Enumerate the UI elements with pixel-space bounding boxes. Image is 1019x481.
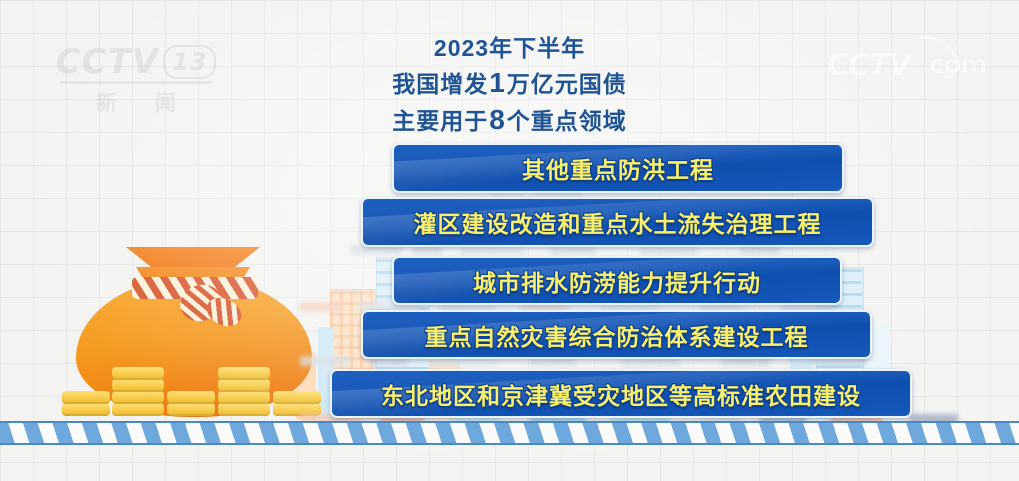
chart-bar: 其他重点防洪工程 [392,143,844,193]
chart-bar: 东北地区和京津冀受灾地区等高标准农田建设 [330,369,912,418]
headline-line-3-suffix: 个重点领域 [507,108,627,134]
chart-bar-label: 其他重点防洪工程 [522,151,714,185]
headline-line-2-prefix: 我国增发 [392,71,488,97]
chart-bar: 城市排水防涝能力提升行动 [392,256,842,305]
chart-bar-label: 城市排水防涝能力提升行动 [473,264,761,298]
headline-line-1: 2023年下半年 [0,33,1019,64]
striped-road-band [0,421,1019,445]
chart-bar-label: 东北地区和京津冀受灾地区等高标准农田建设 [381,377,861,411]
chart-bar-label: 重点自然灾害综合防治体系建设工程 [425,318,809,352]
headline-line-2: 我国增发1万亿元国债 [0,64,1019,101]
news-graphic-stage: CCTV 13 新 闻 CCTV 央视网 com 2023年下半年 我国增发1万… [0,0,1019,481]
headline-block: 2023年下半年 我国增发1万亿元国债 主要用于8个重点领域 [0,33,1019,138]
headline-line-3-number: 8 [488,104,507,135]
headline-line-2-suffix: 万亿元国债 [507,71,627,97]
chart-bar: 重点自然灾害综合防治体系建设工程 [361,310,872,359]
chart-bar-label: 灌区建设改造和重点水土流失治理工程 [414,205,822,239]
headline-line-2-number: 1 [488,67,507,98]
headline-line-3: 主要用于8个重点领域 [0,101,1019,138]
headline-line-3-prefix: 主要用于 [392,108,488,134]
chart-bar: 灌区建设改造和重点水土流失治理工程 [361,197,874,247]
